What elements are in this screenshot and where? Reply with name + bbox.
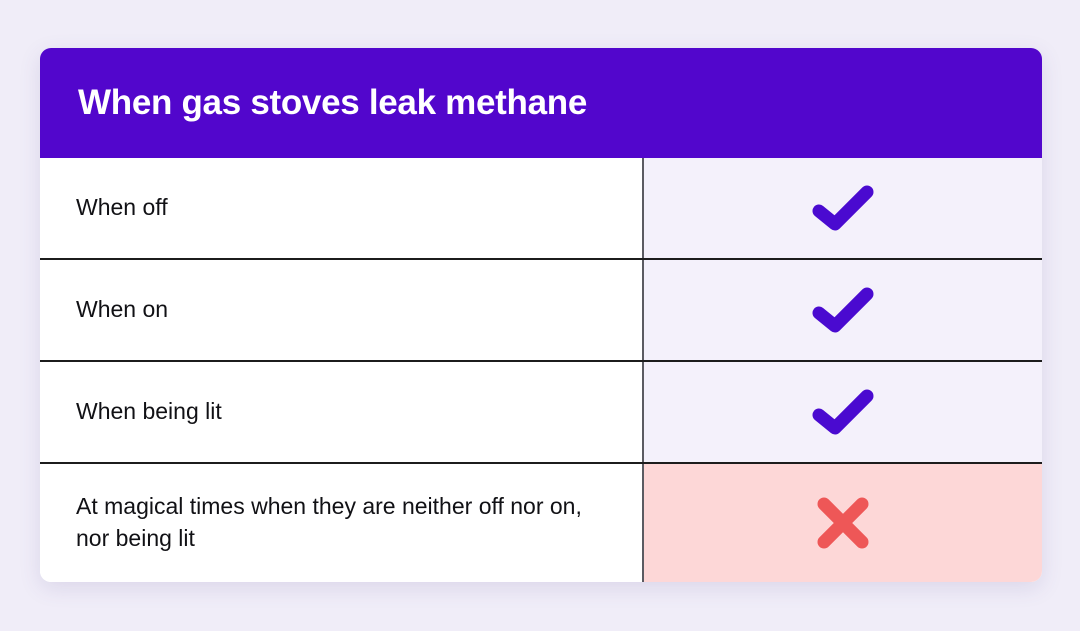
row-status-cell xyxy=(644,260,1042,360)
table-row: When off xyxy=(40,158,1042,258)
card-header: When gas stoves leak methane xyxy=(40,48,1042,158)
check-icon xyxy=(812,287,874,333)
row-status-cell xyxy=(644,464,1042,582)
row-label-cell: When on xyxy=(40,260,644,360)
table-row: At magical times when they are neither o… xyxy=(40,462,1042,582)
page-title: When gas stoves leak methane xyxy=(78,84,587,123)
cross-icon xyxy=(815,495,871,551)
row-status-cell xyxy=(644,362,1042,462)
row-label: When being lit xyxy=(76,396,222,428)
row-label: When off xyxy=(76,192,168,224)
methane-leak-table: When off When on xyxy=(40,158,1042,582)
row-label-cell: When being lit xyxy=(40,362,644,462)
row-label-cell: At magical times when they are neither o… xyxy=(40,464,644,582)
row-label-cell: When off xyxy=(40,158,644,258)
table-row: When on xyxy=(40,258,1042,360)
row-label: When on xyxy=(76,294,168,326)
row-label: At magical times when they are neither o… xyxy=(76,491,616,554)
page-canvas: When gas stoves leak methane When off Wh… xyxy=(0,0,1080,631)
check-icon xyxy=(812,185,874,231)
row-status-cell xyxy=(644,158,1042,258)
comparison-card: When gas stoves leak methane When off Wh… xyxy=(40,48,1042,582)
table-row: When being lit xyxy=(40,360,1042,462)
check-icon xyxy=(812,389,874,435)
